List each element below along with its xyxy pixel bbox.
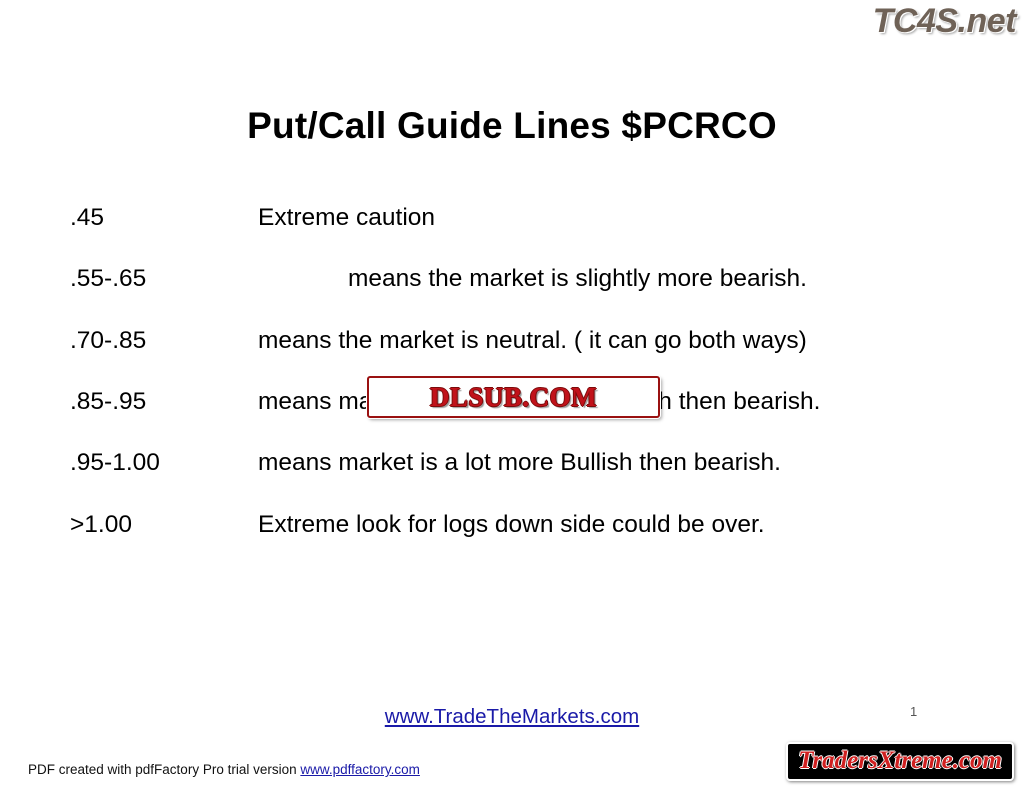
tc4s-brand-watermark: TC4S.net xyxy=(873,2,1016,41)
guideline-description: means the market is slightly more bearis… xyxy=(258,265,807,292)
list-item: .45Extreme caution xyxy=(70,202,970,234)
guideline-range: .70-.85 xyxy=(70,325,258,357)
guideline-range: .45 xyxy=(70,202,258,234)
site-link[interactable]: www.TradeTheMarkets.com xyxy=(0,705,1024,729)
tradersxtreme-brand-text: TradersXtreme.com xyxy=(798,747,1002,774)
dlsub-watermark-stamp: DLSUB.COM xyxy=(367,376,660,418)
guideline-range: >1.00 xyxy=(70,509,258,541)
list-item: >1.00Extreme look for logs down side cou… xyxy=(70,509,970,541)
guideline-range: .85-.95 xyxy=(70,386,258,418)
pdffactory-link[interactable]: www.pdffactory.com xyxy=(300,762,420,777)
guideline-description: Extreme look for logs down side could be… xyxy=(258,511,765,538)
tradethemarkets-link[interactable]: www.TradeTheMarkets.com xyxy=(385,705,639,728)
list-item: .70-.85means the market is neutral. ( it… xyxy=(70,325,970,357)
tradersxtreme-brand: TradersXtreme.com xyxy=(786,742,1014,781)
pdf-footer: PDF created with pdfFactory Pro trial ve… xyxy=(28,762,420,777)
guideline-description: means market is a lot more Bullish then … xyxy=(258,449,781,476)
guideline-description: means the market is neutral. ( it can go… xyxy=(258,327,807,354)
guideline-range: .55-.65 xyxy=(70,263,258,295)
guideline-description: Extreme caution xyxy=(258,204,435,231)
dlsub-watermark-text: DLSUB.COM xyxy=(430,382,597,413)
list-item: .55-.65means the market is slightly more… xyxy=(70,263,970,295)
pdf-footer-text: PDF created with pdfFactory Pro trial ve… xyxy=(28,762,300,777)
list-item: .95-1.00means market is a lot more Bulli… xyxy=(70,447,970,479)
slide-number: 1 xyxy=(910,704,917,719)
guideline-range: .95-1.00 xyxy=(70,447,258,479)
page-title: Put/Call Guide Lines $PCRCO xyxy=(0,105,1024,147)
